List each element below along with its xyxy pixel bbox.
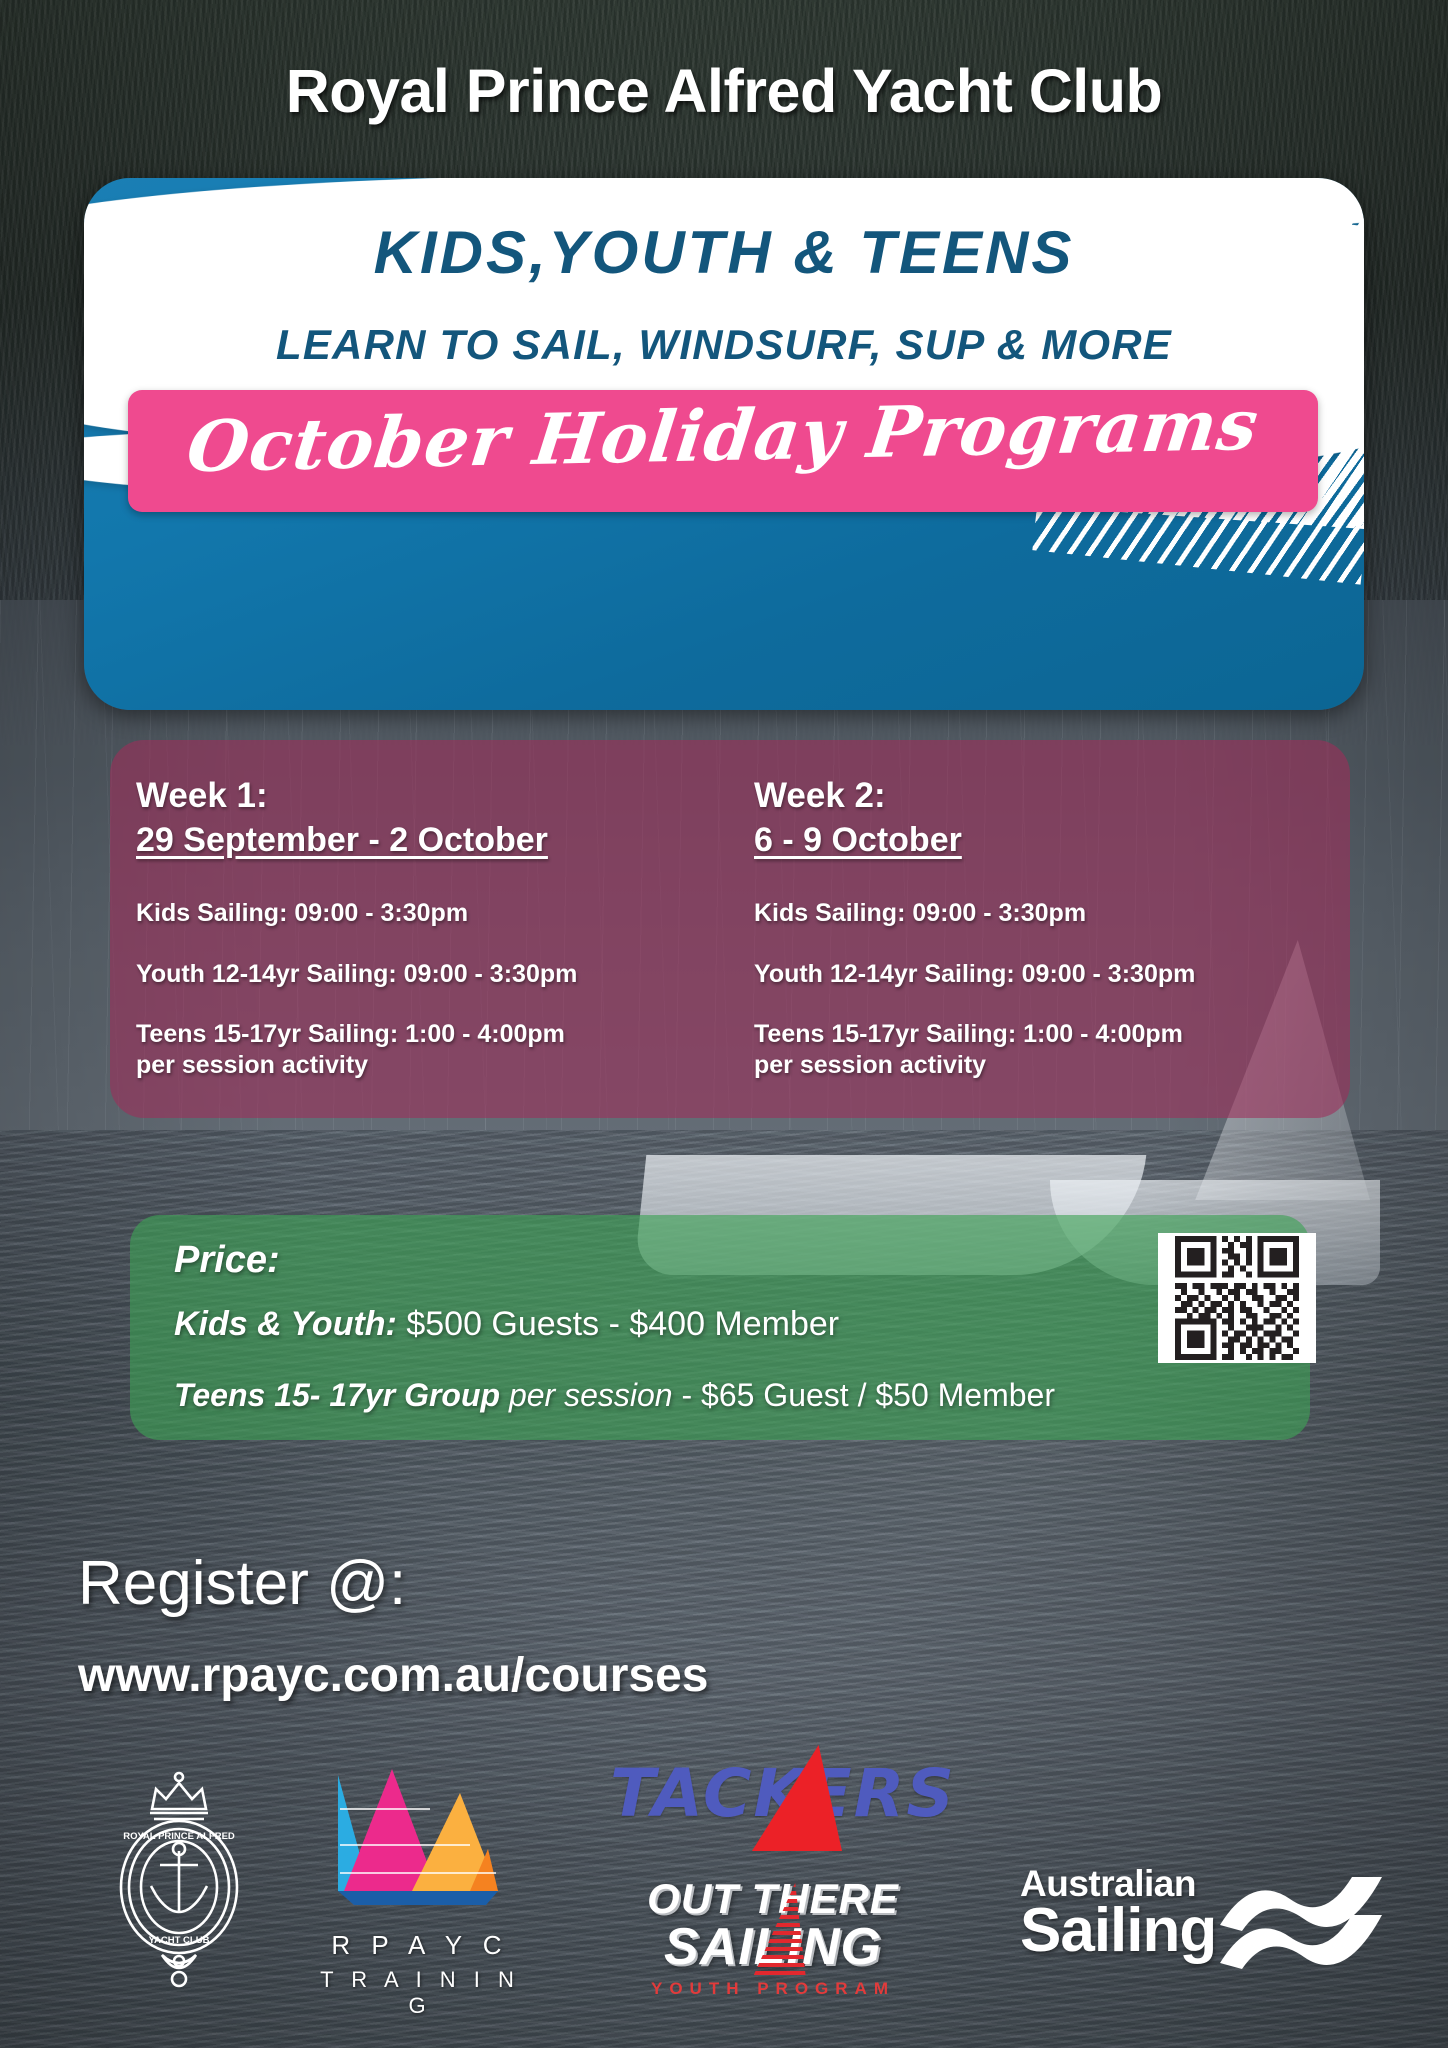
price-kids-youth-label: Kids & Youth: [174, 1305, 397, 1343]
svg-text:ROYAL PRINCE ALFRED: ROYAL PRINCE ALFRED [123, 1831, 235, 1842]
register-url-link[interactable]: www.rpayc.com.au/courses [78, 1648, 708, 1703]
pink-program-banner: October Holiday Programs [128, 390, 1318, 512]
week-session-kids: Kids Sailing: 09:00 - 3:30pm [136, 898, 720, 929]
week-title: Week 1: [136, 776, 720, 816]
headline-secondary: LEARN TO SAIL, WINDSURF, SUP & MORE [84, 321, 1364, 369]
rpayc-crest-icon: ROYAL PRINCE ALFRED YACHT CLUB [104, 1765, 254, 1995]
price-label: Price: [174, 1239, 280, 1282]
club-title: Royal Prince Alfred Yacht Club [0, 56, 1448, 126]
australian-sailing-waves-icon [1216, 1859, 1386, 1979]
rpayc-label-line1: R P A Y C [320, 1930, 520, 1961]
price-kids-youth-row: Kids & Youth: $500 Guests - $400 Member [174, 1305, 839, 1344]
headline-group: KIDS,YOUTH & TEENS LEARN TO SAIL, WINDSU… [84, 218, 1364, 369]
svg-text:YACHT CLUB: YACHT CLUB [149, 1935, 210, 1946]
price-kids-youth-value: $500 Guests - $400 Member [397, 1305, 839, 1343]
tackers-logo: TACKERS [610, 1751, 930, 1841]
program-script-title: October Holiday Programs [128, 390, 1318, 489]
ots-line1: OUT THERE [618, 1875, 928, 1923]
week-title: Week 2: [754, 776, 1340, 816]
week-dates: 29 September - 2 October [136, 821, 720, 860]
week-session-teens: Teens 15-17yr Sailing: 1:00 - 4:00pm per… [754, 1019, 1340, 1080]
register-heading: Register @: [78, 1548, 406, 1619]
week-session-youth: Youth 12-14yr Sailing: 09:00 - 3:30pm [754, 959, 1340, 990]
hero-blue-panel: KIDS,YOUTH & TEENS LEARN TO SAIL, WINDSU… [84, 178, 1364, 710]
poster-root: Royal Prince Alfred Yacht Club KIDS,YOUT… [0, 0, 1448, 2048]
qr-code-icon[interactable] [1158, 1233, 1316, 1363]
week-session-youth: Youth 12-14yr Sailing: 09:00 - 3:30pm [136, 959, 720, 990]
price-teens-row: Teens 15- 17yr Group per session - $65 G… [174, 1377, 1055, 1414]
price-teens-value: - $65 Guest / $50 Member [673, 1377, 1055, 1413]
headline-primary: KIDS,YOUTH & TEENS [84, 218, 1364, 287]
out-there-sailing-logo: OUT THERE SAILING YOUTH PROGRAM [618, 1875, 928, 1995]
tackers-wordmark: TACKERS [610, 1755, 930, 1832]
week-dates: 6 - 9 October [754, 821, 1340, 860]
price-teens-sublabel: per session [500, 1377, 673, 1413]
price-teens-label: Teens 15- 17yr Group [174, 1377, 500, 1413]
week-session-kids: Kids Sailing: 09:00 - 3:30pm [754, 898, 1340, 929]
sponsor-logo-row: ROYAL PRINCE ALFRED YACHT CLUB R P A Y C… [0, 1745, 1448, 2048]
rpayc-training-logo: R P A Y C T R A I N I N G [320, 1765, 520, 2000]
week-column-2: Week 2: 6 - 9 October Kids Sailing: 09:0… [730, 776, 1350, 1118]
rpayc-label-line2: T R A I N I N G [320, 1967, 520, 2019]
ots-line3: YOUTH PROGRAM [618, 1979, 928, 1999]
week-column-1: Week 1: 29 September - 2 October Kids Sa… [110, 776, 730, 1118]
australian-sailing-logo: Australian Sailing [1020, 1863, 1380, 1998]
week-session-teens: Teens 15-17yr Sailing: 1:00 - 4:00pm per… [136, 1019, 720, 1080]
rpayc-sails-icon [320, 1765, 520, 1915]
weeks-panel: Week 1: 29 September - 2 October Kids Sa… [110, 740, 1350, 1118]
price-panel: Price: Kids & Youth: $500 Guests - $400 … [130, 1215, 1310, 1440]
